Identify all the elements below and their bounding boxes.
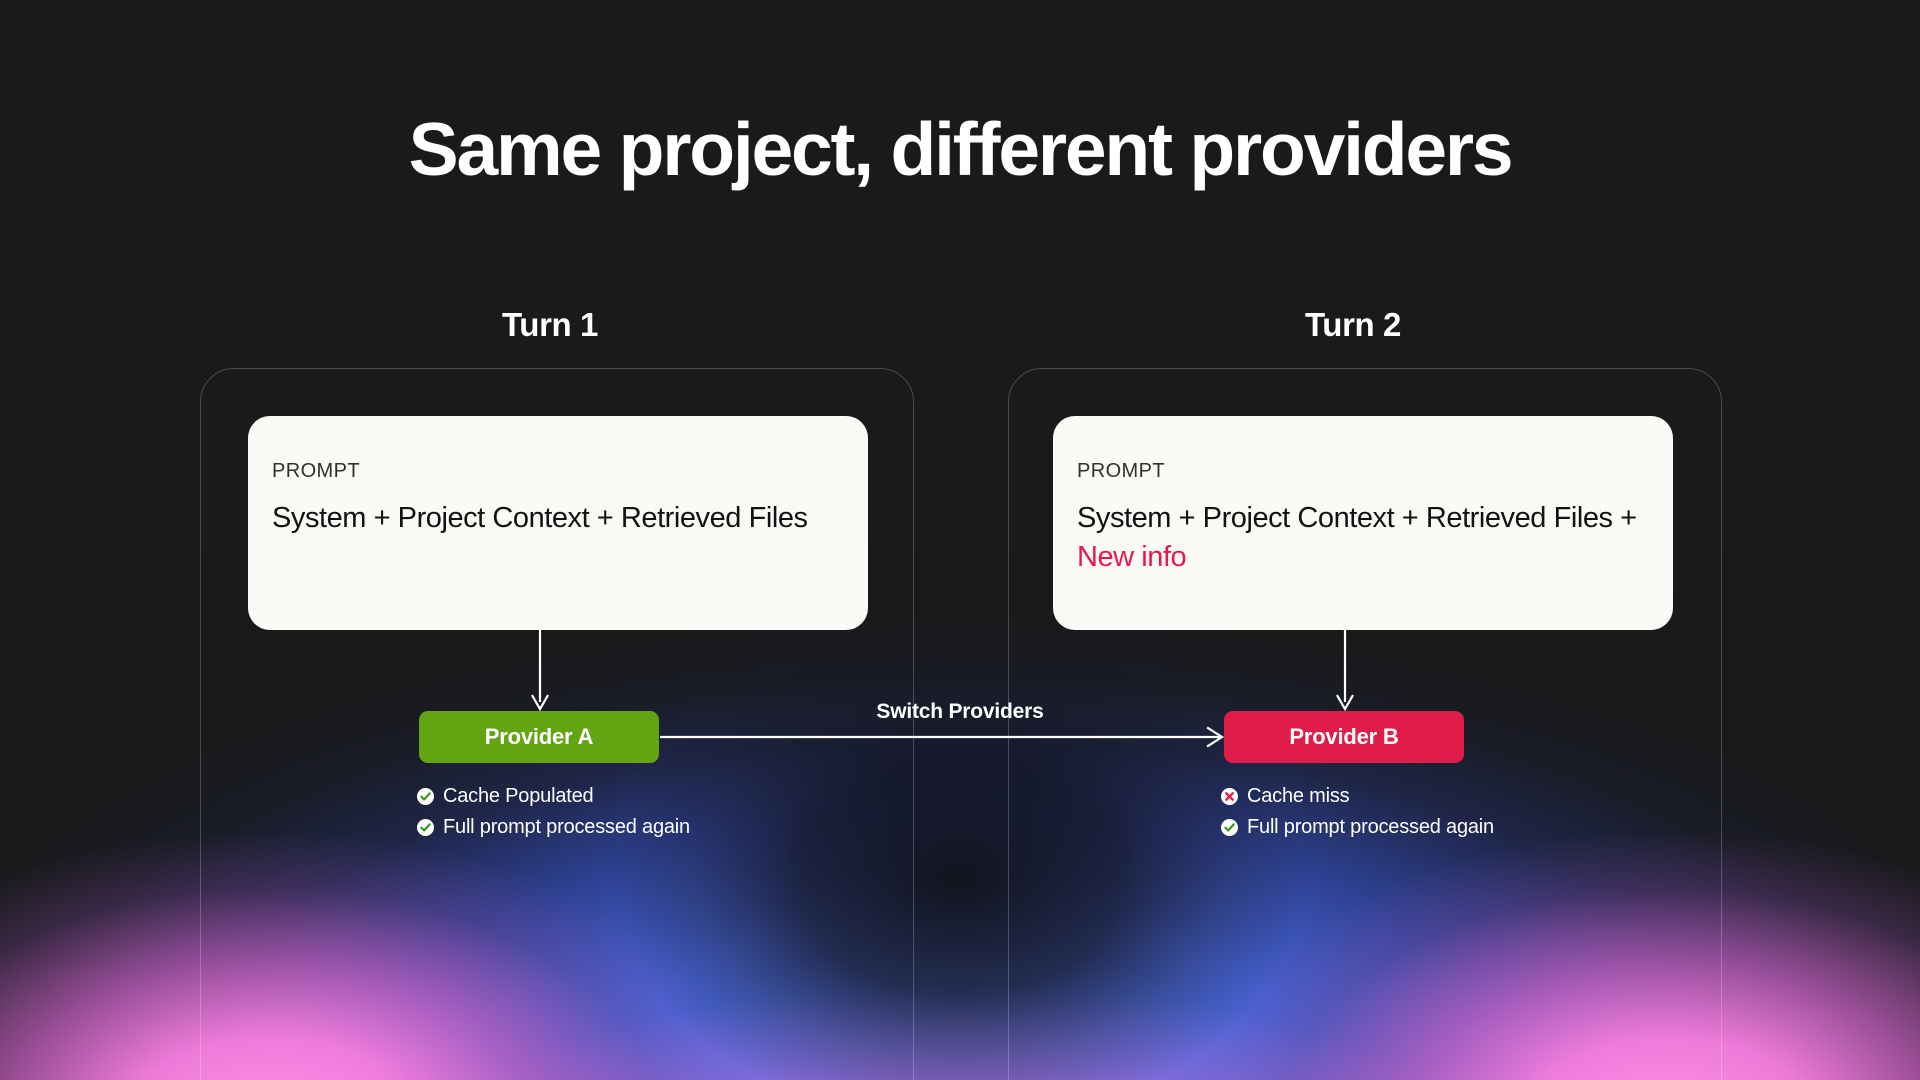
prompt-card-turn-1: PROMPT System + Project Context + Retrie… [248, 416, 868, 630]
provider-a-label: Provider A [485, 724, 593, 750]
prompt-accent-text: New info [1077, 541, 1186, 573]
provider-b-button[interactable]: Provider B [1224, 711, 1464, 763]
x-circle-icon [1221, 788, 1238, 805]
check-circle-icon [417, 819, 434, 836]
turn-label-2: Turn 2 [1203, 306, 1503, 344]
prompt-body: System + Project Context + Retrieved Fil… [272, 499, 844, 538]
check-circle-icon [417, 788, 434, 805]
prompt-kicker: PROMPT [272, 460, 844, 483]
prompt-kicker: PROMPT [1077, 460, 1649, 483]
status-list-turn-1: Cache Populated Full prompt processed ag… [417, 785, 690, 847]
prompt-body-text: System + Project Context + Retrieved Fil… [272, 502, 808, 534]
turn-label-1: Turn 1 [400, 306, 700, 344]
prompt-body-text: System + Project Context + Retrieved Fil… [1077, 502, 1637, 534]
status-label: Full prompt processed again [1247, 816, 1494, 838]
arrow-prompt-to-provider-2 [1335, 630, 1355, 712]
prompt-body: System + Project Context + Retrieved Fil… [1077, 499, 1649, 578]
status-label: Cache miss [1247, 785, 1349, 807]
switch-providers-label: Switch Providers [760, 700, 1160, 724]
check-circle-icon [1221, 819, 1238, 836]
status-list-turn-2: Cache miss Full prompt processed again [1221, 785, 1494, 847]
provider-b-label: Provider B [1289, 724, 1398, 750]
status-label: Cache Populated [443, 785, 593, 807]
status-row: Cache miss [1221, 785, 1494, 807]
prompt-card-turn-2: PROMPT System + Project Context + Retrie… [1053, 416, 1673, 630]
status-row: Full prompt processed again [417, 816, 690, 838]
page-title: Same project, different providers [0, 112, 1920, 187]
status-label: Full prompt processed again [443, 816, 690, 838]
provider-a-button[interactable]: Provider A [419, 711, 659, 763]
arrow-prompt-to-provider-1 [530, 630, 550, 712]
status-row: Cache Populated [417, 785, 690, 807]
status-row: Full prompt processed again [1221, 816, 1494, 838]
